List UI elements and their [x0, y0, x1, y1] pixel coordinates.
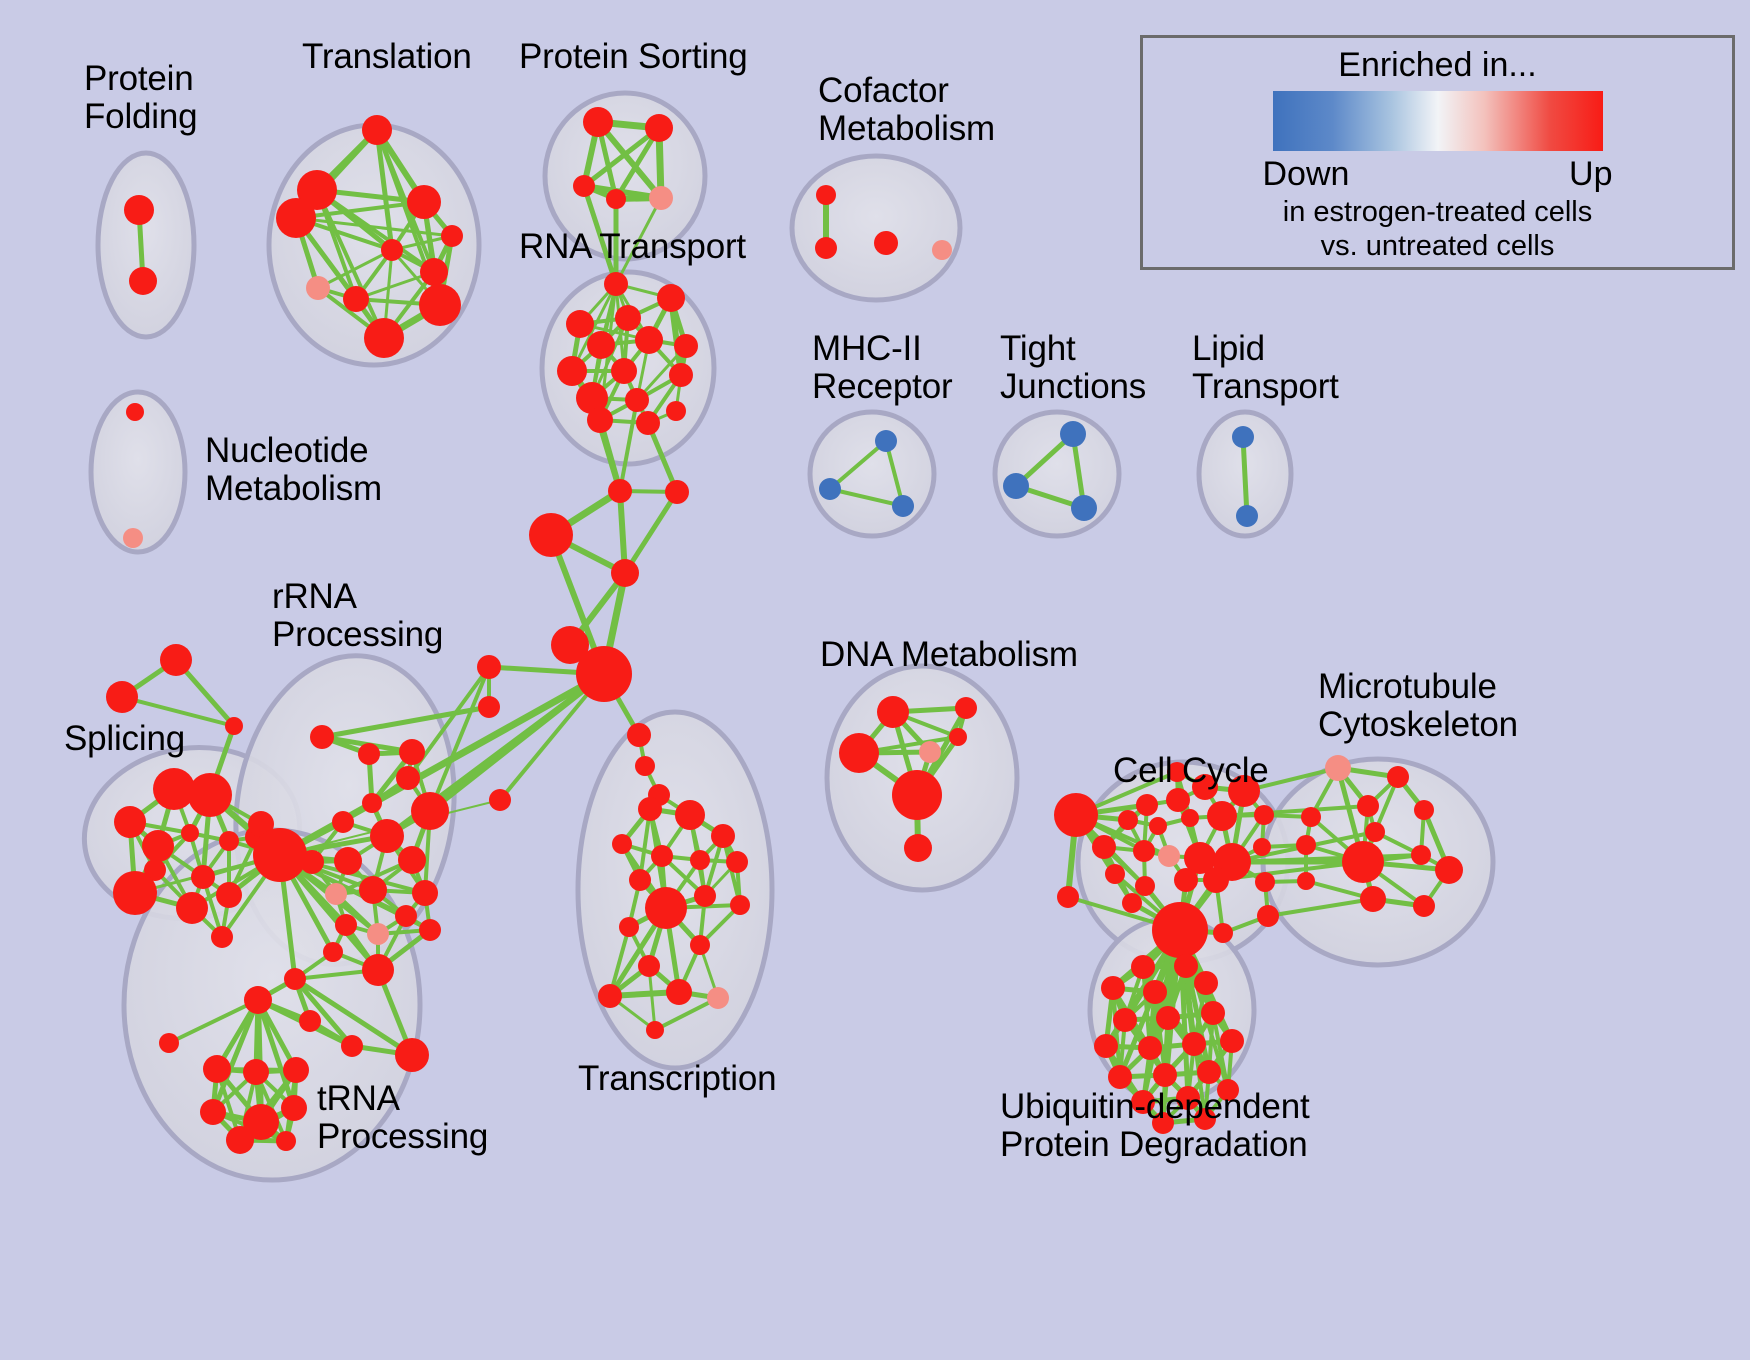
network-node[interactable]	[1060, 421, 1086, 447]
network-node[interactable]	[557, 356, 587, 386]
network-node[interactable]	[358, 743, 380, 765]
network-node[interactable]	[1435, 856, 1463, 884]
network-node[interactable]	[1253, 838, 1271, 856]
network-node[interactable]	[181, 824, 199, 842]
network-node[interactable]	[1135, 876, 1155, 896]
network-node[interactable]	[608, 479, 632, 503]
network-node[interactable]	[815, 237, 837, 259]
network-node[interactable]	[892, 770, 942, 820]
cluster-label-mhc-ii-receptor: MHC-II Receptor	[812, 330, 952, 406]
network-node[interactable]	[362, 954, 394, 986]
network-node[interactable]	[1054, 793, 1098, 837]
network-node[interactable]	[343, 286, 369, 312]
network-node[interactable]	[126, 403, 144, 421]
network-node[interactable]	[657, 284, 685, 312]
cluster-label-rrna-processing: rRNA Processing	[272, 578, 443, 654]
network-node[interactable]	[1194, 971, 1218, 995]
cluster-label-ubiquitin-degradation: Ubiquitin-dependent Protein Degradation	[1000, 1088, 1310, 1164]
network-node[interactable]	[730, 895, 750, 915]
network-node[interactable]	[1133, 840, 1155, 862]
network-node[interactable]	[219, 831, 239, 851]
cofactor-hull	[792, 156, 960, 300]
network-node[interactable]	[341, 1035, 363, 1057]
network-node[interactable]	[276, 198, 316, 238]
network-node[interactable]	[1118, 810, 1138, 830]
network-node[interactable]	[200, 1099, 226, 1125]
network-node[interactable]	[420, 258, 448, 286]
network-node[interactable]	[1166, 788, 1190, 812]
network-node[interactable]	[1131, 955, 1155, 979]
network-node[interactable]	[398, 846, 426, 874]
network-node[interactable]	[283, 1057, 309, 1083]
cluster-label-microtubule-cytoskeleton: Microtubule Cytoskeleton	[1318, 668, 1518, 744]
network-node[interactable]	[1149, 817, 1167, 835]
network-node[interactable]	[612, 834, 632, 854]
network-node[interactable]	[395, 1038, 429, 1072]
figure-canvas: Protein FoldingTranslationProtein Sortin…	[0, 0, 1750, 1360]
legend-panel: Enriched in... Down Up in estrogen-treat…	[1140, 35, 1735, 270]
network-node[interactable]	[284, 968, 306, 990]
network-node[interactable]	[611, 559, 639, 587]
network-node[interactable]	[919, 741, 941, 763]
network-node[interactable]	[489, 789, 511, 811]
network-node[interactable]	[411, 792, 449, 830]
network-node[interactable]	[332, 811, 354, 833]
network-node[interactable]	[176, 892, 208, 924]
network-node[interactable]	[1387, 766, 1409, 788]
network-node[interactable]	[1297, 872, 1315, 890]
network-node[interactable]	[113, 871, 157, 915]
network-node[interactable]	[604, 272, 628, 296]
network-node[interactable]	[1201, 1001, 1225, 1025]
network-node[interactable]	[529, 513, 573, 557]
network-node[interactable]	[276, 1131, 296, 1151]
network-node[interactable]	[1232, 426, 1254, 448]
network-node[interactable]	[478, 696, 500, 718]
network-node[interactable]	[362, 793, 382, 813]
network-node[interactable]	[106, 681, 138, 713]
network-node[interactable]	[225, 717, 243, 735]
network-node[interactable]	[1152, 902, 1208, 958]
network-node[interactable]	[619, 917, 639, 937]
network-node[interactable]	[1182, 1032, 1206, 1056]
network-node[interactable]	[159, 1033, 179, 1053]
network-node[interactable]	[160, 644, 192, 676]
network-node[interactable]	[598, 984, 622, 1008]
network-node[interactable]	[306, 276, 330, 300]
network-node[interactable]	[281, 1095, 307, 1121]
network-node[interactable]	[932, 240, 952, 260]
network-node[interactable]	[1113, 1008, 1137, 1032]
network-node[interactable]	[1325, 755, 1351, 781]
network-node[interactable]	[694, 885, 716, 907]
network-node[interactable]	[1220, 1029, 1244, 1053]
cluster-label-tight-junctions: Tight Junctions	[1000, 330, 1146, 406]
cluster-label-protein-sorting: Protein Sorting	[519, 38, 748, 76]
network-node[interactable]	[675, 800, 705, 830]
network-node[interactable]	[576, 646, 632, 702]
network-node[interactable]	[441, 225, 463, 247]
network-node[interactable]	[399, 739, 425, 765]
legend-up-label: Up	[1569, 155, 1612, 194]
network-node[interactable]	[627, 723, 651, 747]
network-node[interactable]	[707, 987, 729, 1009]
network-node[interactable]	[566, 310, 594, 338]
legend-subtitle-line1: in estrogen-treated cells	[1283, 196, 1593, 228]
network-node[interactable]	[1108, 1065, 1132, 1089]
cluster-label-dna-metabolism: DNA Metabolism	[820, 636, 1078, 674]
network-node[interactable]	[1057, 886, 1079, 908]
network-node[interactable]	[1342, 841, 1384, 883]
network-node[interactable]	[325, 883, 347, 905]
network-node[interactable]	[323, 942, 343, 962]
network-node[interactable]	[690, 935, 710, 955]
network-node[interactable]	[635, 756, 655, 776]
network-node[interactable]	[892, 495, 914, 517]
cluster-label-cofactor-metabolism: Cofactor Metabolism	[818, 72, 995, 148]
network-node[interactable]	[1181, 809, 1199, 827]
network-node[interactable]	[381, 239, 403, 261]
network-node[interactable]	[153, 768, 195, 810]
network-node[interactable]	[142, 830, 174, 862]
network-node[interactable]	[955, 697, 977, 719]
network-node[interactable]	[665, 480, 689, 504]
network-node[interactable]	[362, 115, 392, 145]
network-node[interactable]	[1207, 801, 1237, 831]
network-node[interactable]	[629, 869, 651, 891]
network-node[interactable]	[1158, 845, 1180, 867]
network-node[interactable]	[1071, 495, 1097, 521]
cluster-label-lipid-transport: Lipid Transport	[1192, 330, 1339, 406]
network-node[interactable]	[645, 114, 673, 142]
cluster-label-rna-transport: RNA Transport	[519, 228, 746, 266]
network-node[interactable]	[1414, 800, 1434, 820]
network-node[interactable]	[334, 847, 362, 875]
network-node[interactable]	[1101, 976, 1125, 1000]
network-node[interactable]	[1254, 805, 1274, 825]
network-edge	[625, 492, 677, 573]
cluster-label-translation: Translation	[302, 38, 472, 76]
network-node[interactable]	[1197, 1060, 1221, 1084]
network-node[interactable]	[1213, 923, 1233, 943]
cluster-label-trna-processing: tRNA Processing	[317, 1080, 488, 1156]
network-node[interactable]	[203, 1055, 231, 1083]
network-node[interactable]	[638, 955, 660, 977]
network-node[interactable]	[1365, 822, 1385, 842]
network-node[interactable]	[359, 876, 387, 904]
network-node[interactable]	[839, 733, 879, 773]
network-node[interactable]	[1092, 835, 1116, 859]
network-node[interactable]	[477, 655, 501, 679]
network-node[interactable]	[407, 185, 441, 219]
network-node[interactable]	[949, 728, 967, 746]
network-node[interactable]	[615, 305, 641, 331]
network-node[interactable]	[874, 231, 898, 255]
network-node[interactable]	[1236, 505, 1258, 527]
network-node[interactable]	[646, 1021, 664, 1039]
network-node[interactable]	[1357, 795, 1379, 817]
network-node[interactable]	[645, 887, 687, 929]
legend-subtitle-line2: vs. untreated cells	[1321, 230, 1555, 262]
network-node[interactable]	[1138, 1036, 1162, 1060]
network-node[interactable]	[877, 696, 909, 728]
network-node[interactable]	[1174, 954, 1198, 978]
network-node[interactable]	[395, 905, 417, 927]
network-node[interactable]	[419, 284, 461, 326]
network-node[interactable]	[1122, 893, 1142, 913]
cluster-label-nucleotide-metabolism: Nucleotide Metabolism	[205, 432, 382, 508]
network-node[interactable]	[638, 797, 662, 821]
network-node[interactable]	[726, 851, 748, 873]
network-node[interactable]	[690, 850, 710, 870]
network-node[interactable]	[226, 1126, 254, 1154]
network-node[interactable]	[1094, 1034, 1118, 1058]
network-node[interactable]	[711, 824, 735, 848]
cluster-label-splicing: Splicing	[64, 720, 185, 758]
network-node[interactable]	[129, 267, 157, 295]
network-node[interactable]	[1156, 1006, 1180, 1030]
network-node[interactable]	[310, 725, 334, 749]
network-node[interactable]	[243, 1059, 269, 1085]
network-node[interactable]	[364, 318, 404, 358]
network-node[interactable]	[1301, 807, 1321, 827]
network-node[interactable]	[1143, 980, 1167, 1004]
network-node[interactable]	[244, 986, 272, 1014]
network-node[interactable]	[1255, 872, 1275, 892]
network-node[interactable]	[625, 388, 649, 412]
network-node[interactable]	[335, 914, 357, 936]
mhc-hull	[810, 412, 934, 536]
network-node[interactable]	[583, 107, 613, 137]
cluster-label-transcription: Transcription	[578, 1060, 776, 1098]
network-node[interactable]	[875, 430, 897, 452]
network-node[interactable]	[300, 850, 324, 874]
network-node[interactable]	[651, 845, 673, 867]
network-node[interactable]	[216, 882, 242, 908]
network-node[interactable]	[188, 773, 232, 817]
network-node[interactable]	[587, 331, 615, 359]
network-node[interactable]	[587, 407, 613, 433]
network-node[interactable]	[611, 358, 637, 384]
network-node[interactable]	[211, 926, 233, 948]
network-node[interactable]	[1136, 794, 1158, 816]
network-node[interactable]	[1360, 886, 1386, 912]
network-node[interactable]	[419, 919, 441, 941]
legend-down-label: Down	[1263, 155, 1350, 194]
network-node[interactable]	[1411, 845, 1431, 865]
network-node[interactable]	[666, 401, 686, 421]
network-node[interactable]	[114, 806, 146, 838]
protein-folding-hull	[98, 153, 194, 337]
cluster-label-protein-folding: Protein Folding	[84, 60, 197, 136]
network-node[interactable]	[396, 766, 420, 790]
network-node[interactable]	[635, 326, 663, 354]
cluster-label-cell-cycle: Cell Cycle	[1113, 752, 1269, 790]
network-node[interactable]	[1105, 864, 1125, 884]
network-node[interactable]	[1174, 868, 1198, 892]
network-node[interactable]	[1413, 895, 1435, 917]
network-node[interactable]	[1203, 867, 1229, 893]
network-node[interactable]	[412, 880, 438, 906]
network-node[interactable]	[606, 189, 626, 209]
network-node[interactable]	[636, 411, 660, 435]
network-node[interactable]	[299, 1010, 321, 1032]
network-node[interactable]	[253, 828, 307, 882]
network-node[interactable]	[124, 195, 154, 225]
legend-endpoint-labels: Down Up	[1263, 155, 1613, 194]
network-node[interactable]	[1296, 835, 1316, 855]
network-node[interactable]	[573, 175, 595, 197]
network-node[interactable]	[666, 979, 692, 1005]
network-node[interactable]	[819, 478, 841, 500]
network-node[interactable]	[1003, 473, 1029, 499]
network-node[interactable]	[669, 363, 693, 387]
network-node[interactable]	[367, 923, 389, 945]
network-node[interactable]	[123, 528, 143, 548]
legend-color-gradient	[1273, 91, 1603, 151]
network-node[interactable]	[1257, 905, 1279, 927]
network-node[interactable]	[674, 334, 698, 358]
network-node[interactable]	[191, 865, 215, 889]
network-node[interactable]	[816, 185, 836, 205]
network-node[interactable]	[904, 834, 932, 862]
network-node[interactable]	[649, 186, 673, 210]
network-node[interactable]	[370, 819, 404, 853]
network-node[interactable]	[1153, 1063, 1177, 1087]
legend-title: Enriched in...	[1338, 46, 1536, 85]
